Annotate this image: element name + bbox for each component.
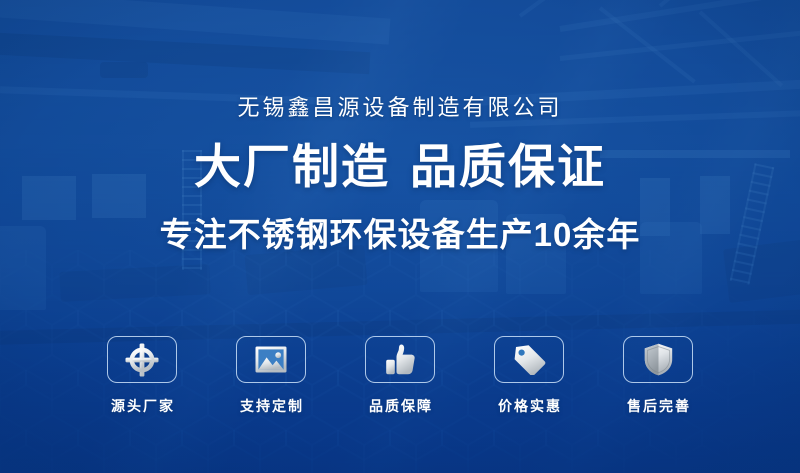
shield-icon bbox=[644, 343, 673, 376]
feature-item-quality-guarantee[interactable]: 品质保障 bbox=[356, 336, 444, 416]
feature-list: 源头厂家 支持定制 bbox=[0, 336, 800, 416]
icon-box-custom-support[interactable] bbox=[236, 336, 306, 383]
icon-box-source-factory[interactable] bbox=[107, 336, 177, 383]
icon-box-after-sales[interactable] bbox=[623, 336, 693, 383]
headline-part-2: 品质保证 bbox=[410, 140, 606, 193]
feature-item-affordable-price[interactable]: 价格实惠 bbox=[485, 336, 573, 416]
company-name: 无锡鑫昌源设备制造有限公司 bbox=[237, 90, 562, 122]
subtitle: 专注不锈钢环保设备生产10余年 bbox=[160, 218, 641, 251]
icon-box-quality-guarantee[interactable] bbox=[365, 336, 435, 383]
icon-box-affordable-price[interactable] bbox=[494, 336, 564, 383]
feature-label-after-sales: 售后完善 bbox=[625, 396, 691, 416]
feature-label-quality-guarantee: 品质保障 bbox=[367, 396, 433, 416]
feature-label-custom-support: 支持定制 bbox=[238, 396, 304, 416]
feature-item-custom-support[interactable]: 支持定制 bbox=[227, 336, 315, 416]
crosshair-icon bbox=[125, 343, 159, 377]
image-icon bbox=[255, 346, 287, 373]
feature-label-affordable-price: 价格实惠 bbox=[496, 396, 562, 416]
headline-part-1: 大厂制造 bbox=[194, 140, 390, 193]
thumbs-up-icon bbox=[385, 344, 416, 376]
price-tag-icon bbox=[513, 344, 546, 375]
feature-item-source-factory[interactable]: 源头厂家 bbox=[98, 336, 186, 416]
headline: 大厂制造品质保证 bbox=[194, 143, 606, 190]
promo-banner: 无锡鑫昌源设备制造有限公司 大厂制造品质保证 专注不锈钢环保设备生产10余年 bbox=[0, 0, 800, 473]
feature-label-source-factory: 源头厂家 bbox=[109, 396, 175, 416]
feature-item-after-sales[interactable]: 售后完善 bbox=[614, 336, 702, 416]
